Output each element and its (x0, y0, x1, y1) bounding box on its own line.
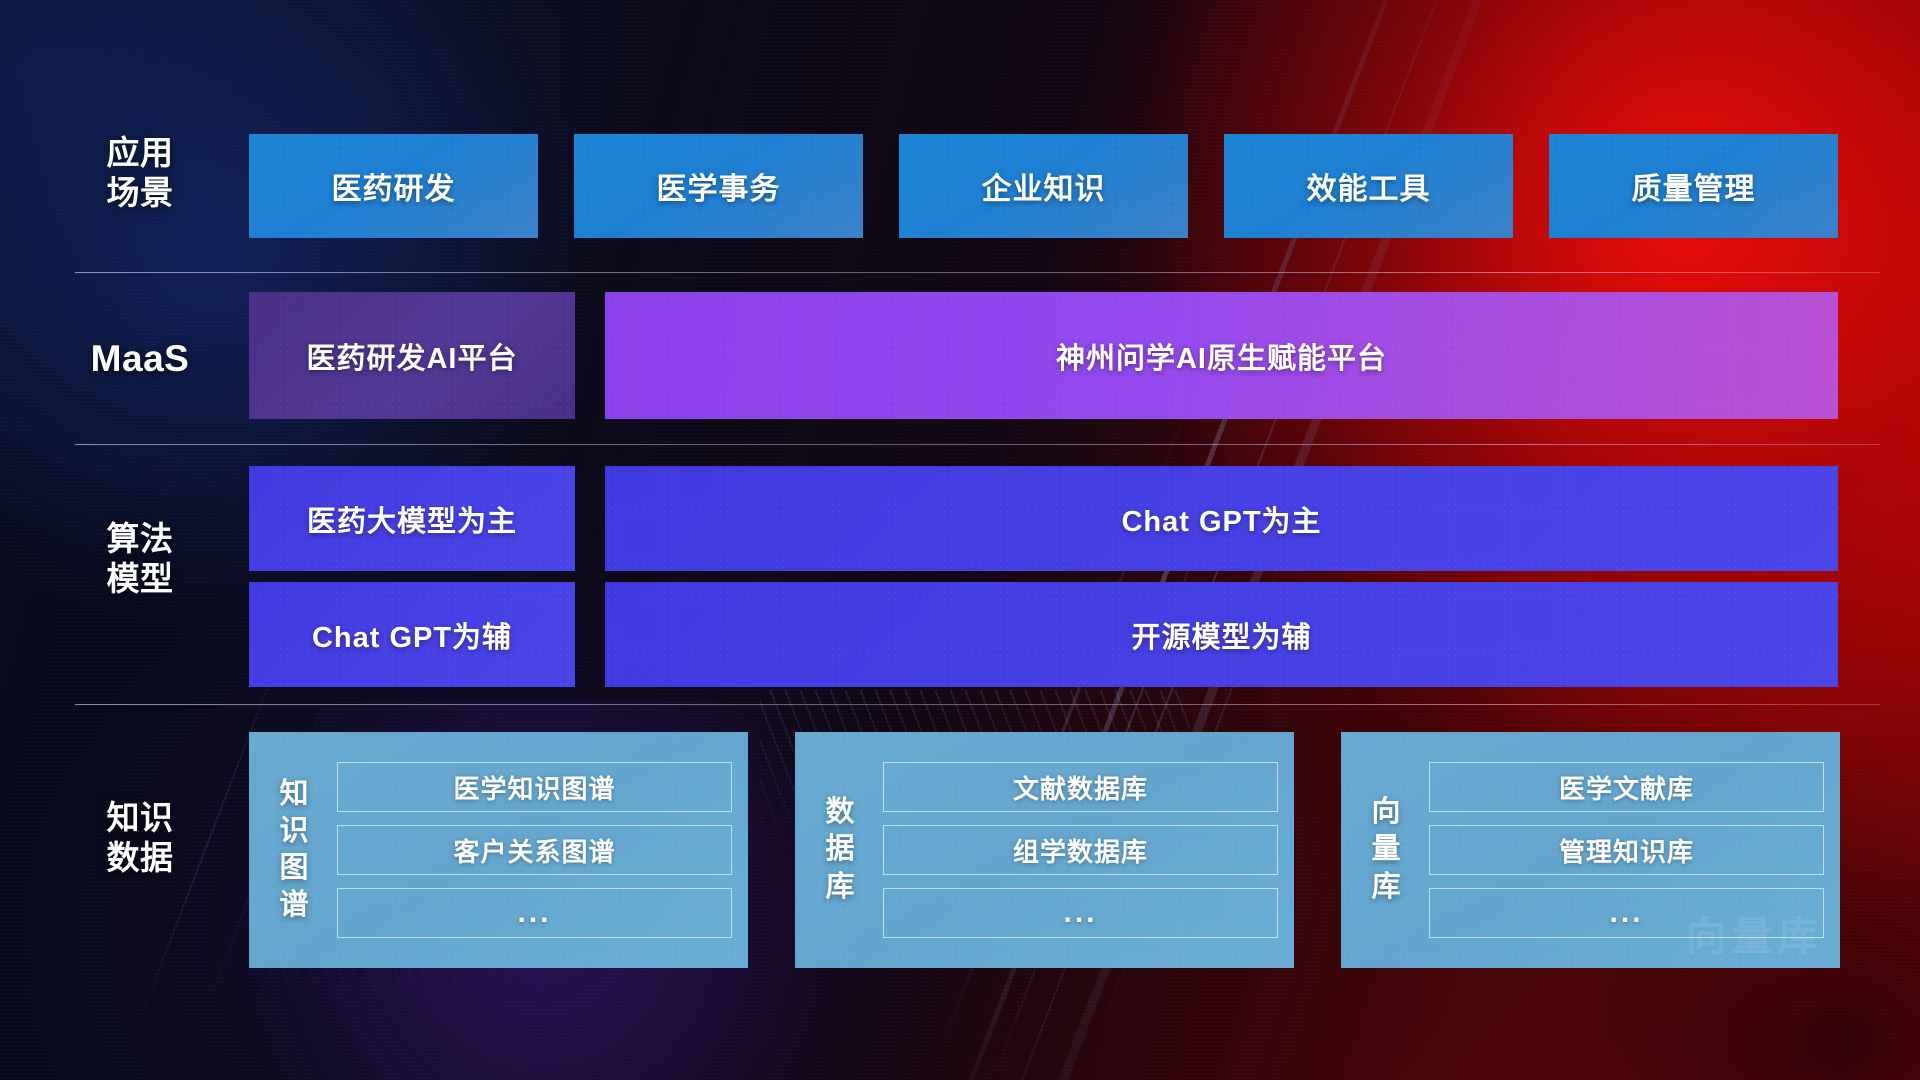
row-label-knowledge-data: 知识数据 (75, 798, 205, 879)
knowledge-card-title: 数据库 (809, 794, 871, 905)
maas-cell-pharma-ai-platform[interactable]: 医药研发AI平台 (249, 292, 575, 419)
knowledge-item-more[interactable]: ... (883, 888, 1278, 938)
row-divider (75, 272, 1880, 273)
knowledge-card-knowledge-graph[interactable]: 知识图谱 医学知识图谱 客户关系图谱 ... (249, 732, 748, 968)
knowledge-card-title: 向量库 (1355, 794, 1417, 905)
knowledge-item[interactable]: 医学文献库 (1429, 762, 1824, 812)
knowledge-item-more[interactable]: ... (337, 888, 732, 938)
knowledge-item-more[interactable]: ... (1429, 888, 1824, 938)
architecture-diagram: 应用场景 医药研发 医学事务 企业知识 效能工具 质量管理 MaaS 医药研发A… (0, 0, 1920, 1080)
algo-cell-chatgpt-primary[interactable]: Chat GPT为主 (605, 466, 1838, 571)
knowledge-item[interactable]: 组学数据库 (883, 825, 1278, 875)
knowledge-card-items: 文献数据库 组学数据库 ... (883, 762, 1278, 938)
algo-cell-opensource-secondary[interactable]: 开源模型为辅 (605, 582, 1838, 687)
algo-cell-chatgpt-secondary[interactable]: Chat GPT为辅 (249, 582, 575, 687)
row-label-application-scenario: 应用场景 (75, 133, 205, 214)
knowledge-item[interactable]: 医学知识图谱 (337, 762, 732, 812)
maas-cell-shenzhou-wenxue-platform[interactable]: 神州问学AI原生赋能平台 (605, 292, 1838, 419)
knowledge-card-items: 医学文献库 管理知识库 ... (1429, 762, 1824, 938)
knowledge-item[interactable]: 文献数据库 (883, 762, 1278, 812)
knowledge-card-database[interactable]: 数据库 文献数据库 组学数据库 ... (795, 732, 1294, 968)
algo-cell-pharma-llm-primary[interactable]: 医药大模型为主 (249, 466, 575, 571)
row-label-algorithm-model: 算法模型 (75, 519, 205, 600)
knowledge-card-items: 医学知识图谱 客户关系图谱 ... (337, 762, 732, 938)
knowledge-item[interactable]: 客户关系图谱 (337, 825, 732, 875)
row-divider (75, 704, 1880, 705)
row-label-maas: MaaS (75, 336, 205, 381)
app-cell-medical-affairs[interactable]: 医学事务 (574, 134, 863, 238)
app-cell-quality-management[interactable]: 质量管理 (1549, 134, 1838, 238)
app-cell-enterprise-knowledge[interactable]: 企业知识 (899, 134, 1188, 238)
knowledge-card-vector-store[interactable]: 向量库 医学文献库 管理知识库 ... (1341, 732, 1840, 968)
row-divider (75, 444, 1880, 445)
app-cell-efficiency-tools[interactable]: 效能工具 (1224, 134, 1513, 238)
knowledge-card-title: 知识图谱 (263, 776, 325, 924)
app-cell-medical-rnd[interactable]: 医药研发 (249, 134, 538, 238)
knowledge-item[interactable]: 管理知识库 (1429, 825, 1824, 875)
